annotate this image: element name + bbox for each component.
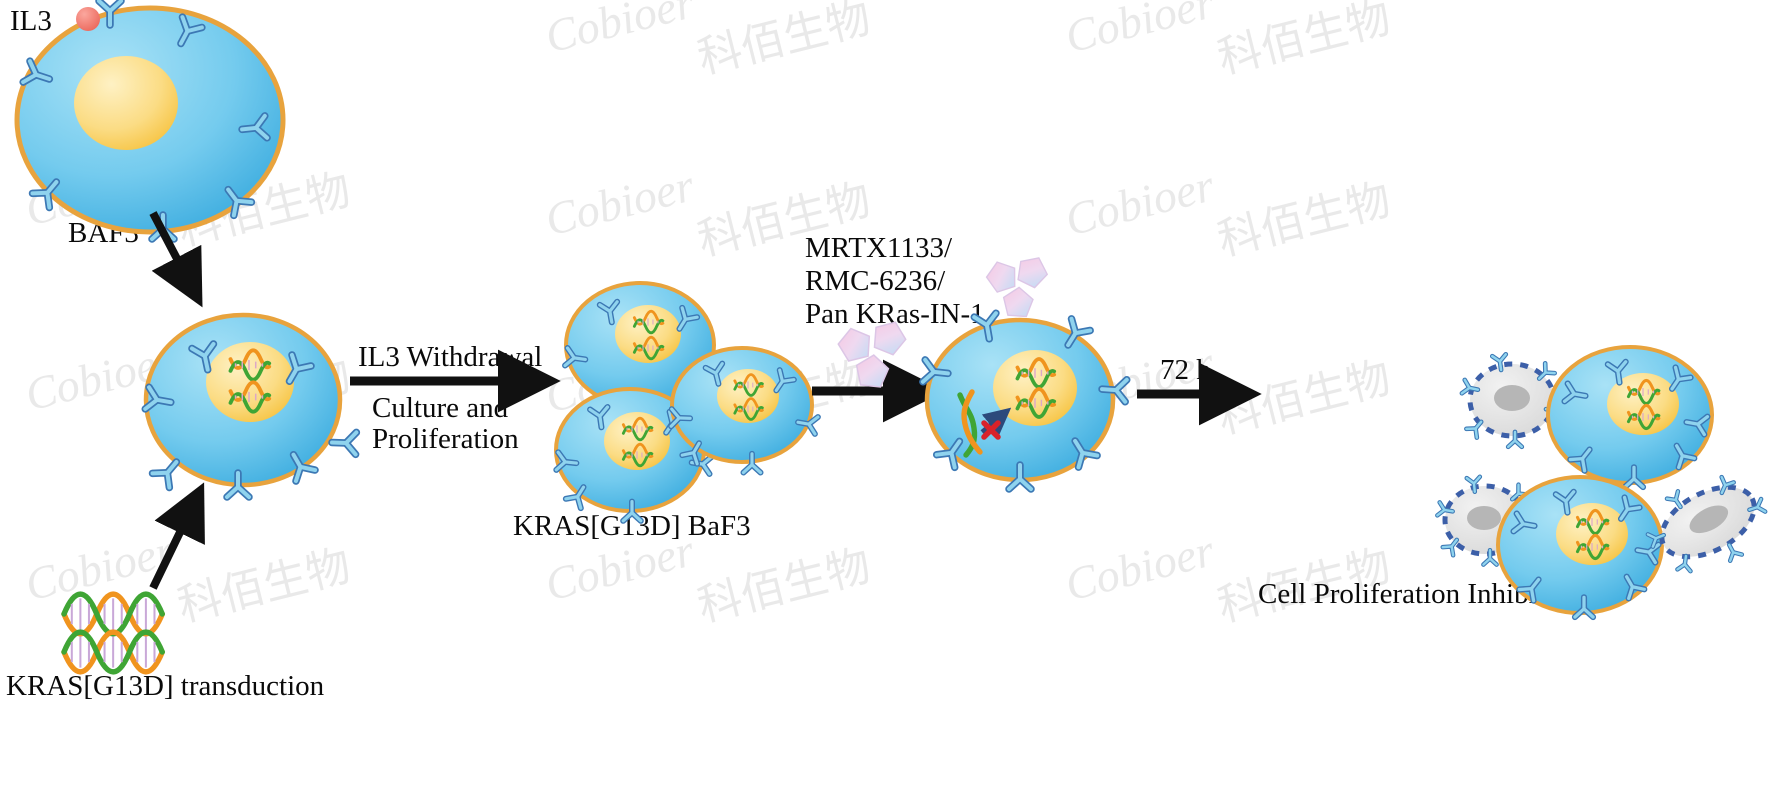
viable-cell-1	[1548, 347, 1712, 487]
diagram-graphics	[0, 0, 1780, 812]
kras-dna-construct	[64, 594, 162, 672]
arrow-dna-to-cell	[153, 495, 198, 588]
cell-drug-treated	[923, 313, 1127, 489]
diagram-canvas: Cobioer科佰生物Cobioer科佰生物Cobioer科佰生物Cobioer…	[0, 0, 1780, 812]
dead-cell-1	[1462, 354, 1562, 447]
viable-cell-2	[1498, 477, 1662, 617]
cell-baf3-parental	[17, 1, 283, 239]
drug-molecules-left	[835, 316, 910, 387]
cell-kras-transduced	[145, 315, 356, 497]
il3-ligand-dot	[76, 7, 100, 31]
cluster-cell-3	[671, 348, 818, 473]
cell-cluster-kras-baf3	[556, 283, 818, 521]
outcome-cells	[1437, 347, 1779, 617]
drug-molecules-top	[983, 251, 1052, 316]
